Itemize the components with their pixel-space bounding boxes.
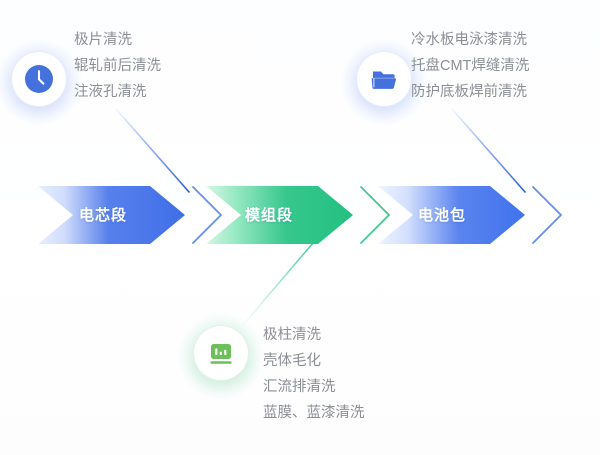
annotation-pack: 冷水板电泳漆清洗 托盘CMT焊缝清洗 防护底板焊前清洗: [411, 27, 529, 105]
annotation-line: 壳体毛化: [263, 348, 365, 374]
clock-icon: [22, 62, 56, 96]
annotation-line: 冷水板电泳漆清洗: [411, 27, 529, 53]
folder-icon-badge[interactable]: [356, 51, 412, 107]
stage-arrow-outline-module: [361, 187, 389, 243]
connector-module: [243, 243, 313, 325]
stage-label-cell: 电芯段: [79, 204, 127, 225]
chart-monitor-icon-badge[interactable]: [193, 325, 249, 381]
annotation-line: 汇流排清洗: [263, 374, 365, 400]
annotation-line: 注液孔清洗: [74, 79, 161, 105]
stage-label-pack: 电池包: [418, 204, 466, 225]
annotation-line: 蓝膜、蓝漆清洗: [263, 400, 365, 426]
stage-arrow-outline-pack: [533, 187, 561, 243]
annotation-line: 托盘CMT焊缝清洗: [411, 53, 529, 79]
diagram-canvas: 电芯段 模组段 电池包 极片清洗 辊轧前后清洗 注液孔清洗: [0, 0, 600, 455]
annotation-line: 辊轧前后清洗: [74, 53, 161, 79]
stage-label-module: 模组段: [245, 204, 293, 225]
chart-monitor-icon: [204, 336, 238, 370]
annotation-line: 极柱清洗: [263, 322, 365, 348]
annotation-line: 防护底板焊前清洗: [411, 79, 529, 105]
connector-pack: [452, 109, 525, 192]
connector-cell: [116, 109, 189, 192]
clock-icon-badge[interactable]: [11, 51, 67, 107]
stage-arrow-outline-cell: [193, 187, 221, 243]
folder-icon: [367, 62, 401, 96]
annotation-line: 极片清洗: [74, 27, 161, 53]
annotation-cell: 极片清洗 辊轧前后清洗 注液孔清洗: [74, 27, 161, 105]
annotation-module: 极柱清洗 壳体毛化 汇流排清洗 蓝膜、蓝漆清洗: [263, 322, 365, 426]
